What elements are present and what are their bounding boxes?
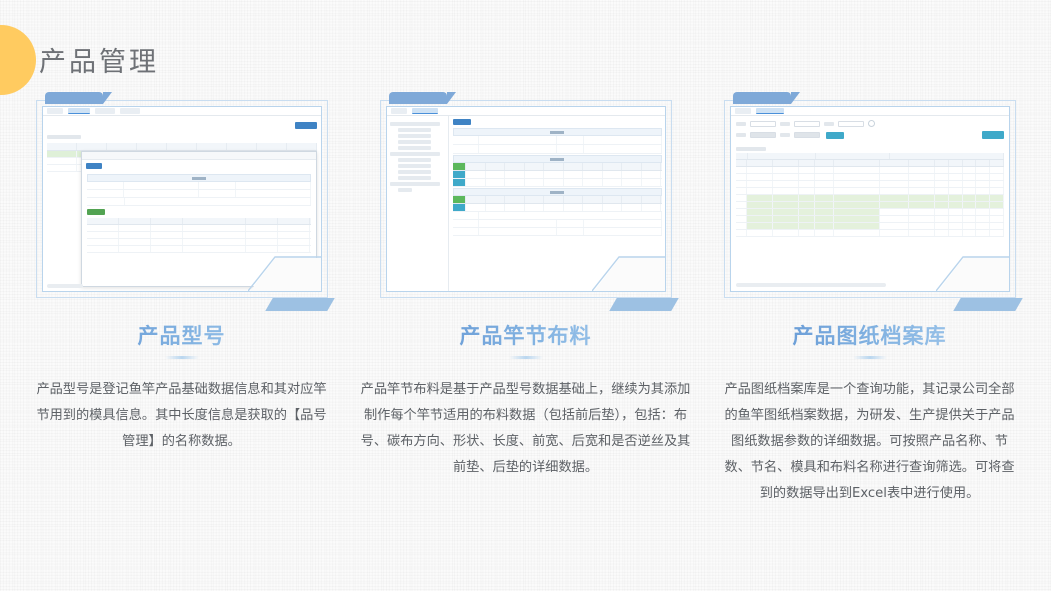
mini-tree-panel[interactable] — [387, 116, 449, 291]
card-title: 产品型号 — [36, 320, 328, 350]
card-row: 产品型号 产品型号是登记鱼竿产品基础数据信息和其对应竿节用到的模具信息。其中长度… — [0, 100, 1051, 507]
card-product-model[interactable]: 产品型号 产品型号是登记鱼竿产品基础数据信息和其对应竿节用到的模具信息。其中长度… — [36, 100, 328, 507]
card-rod-section-fabric[interactable]: 产品竿节布料 产品竿节布料是基于产品型号数据基础上，继续为其添加制作每个竿节适用… — [380, 100, 672, 507]
card-body-text: 产品型号是登记鱼竿产品基础数据信息和其对应竿节用到的模具信息。其中长度信息是获取… — [32, 377, 332, 455]
corner-accent-bar — [265, 298, 335, 311]
corner-accent-bar — [953, 298, 1023, 311]
mini-scrollbar[interactable] — [47, 284, 83, 288]
mini-tabbar — [731, 107, 1009, 116]
card-body-text: 产品图纸档案库是一个查询功能，其记录公司全部的鱼竿图纸档案数据，为研发、生产提供… — [720, 377, 1020, 507]
decorative-circle — [0, 25, 36, 95]
screenshot-product-model[interactable] — [42, 106, 322, 292]
screenshot-frame — [380, 100, 672, 298]
folder-tab-icon — [389, 92, 447, 104]
card-title: 产品竿节布料 — [380, 320, 672, 350]
folder-tab-icon — [733, 92, 791, 104]
page-title: 产品管理 — [39, 40, 159, 79]
folder-tab-icon — [45, 92, 103, 104]
card-body-text: 产品竿节布料是基于产品型号数据基础上，继续为其添加制作每个竿节适用的布料数据（包… — [361, 377, 691, 481]
mini-tabbar — [387, 107, 665, 116]
screenshot-rod-section-fabric[interactable] — [386, 106, 666, 292]
title-underline — [165, 356, 199, 359]
screenshot-frame — [36, 100, 328, 298]
title-underline — [509, 356, 543, 359]
mini-scrollbar[interactable] — [736, 283, 886, 287]
mini-tabbar — [43, 107, 321, 116]
screenshot-drawing-archive[interactable] — [730, 106, 1010, 292]
screenshot-frame — [724, 100, 1016, 298]
card-title: 产品图纸档案库 — [724, 320, 1016, 350]
mini-filter-panel[interactable] — [736, 120, 1004, 139]
corner-accent-bar — [609, 298, 679, 311]
title-underline — [853, 356, 887, 359]
card-drawing-archive[interactable]: 产品图纸档案库 产品图纸档案库是一个查询功能，其记录公司全部的鱼竿图纸档案数据，… — [724, 100, 1016, 507]
